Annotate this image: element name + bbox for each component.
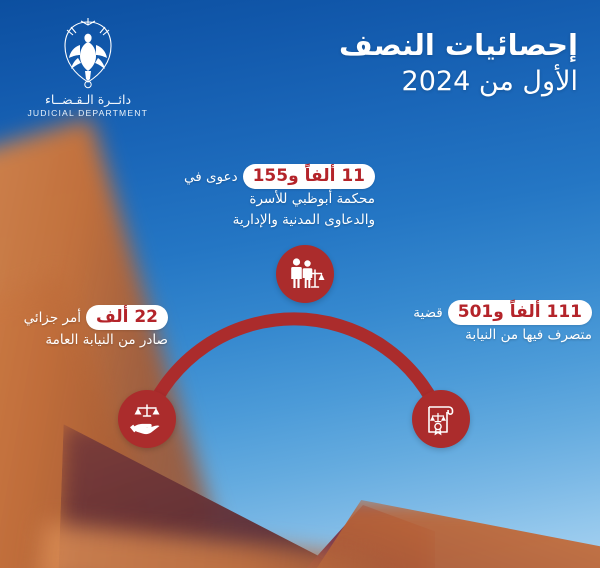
stat-unit: أمر جزائي <box>24 310 81 326</box>
title-line-secondary: الأول من 2024 <box>339 66 578 99</box>
infographic-poster: دائــرة الـقـضــاء JUDICIAL DEPARTMENT إ… <box>0 0 600 568</box>
status-badge: 22 ألف <box>86 305 168 330</box>
brand-logo: دائــرة الـقـضــاء JUDICIAL DEPARTMENT <box>28 14 148 118</box>
stat-description-line-2: والدعاوى المدنية والإدارية <box>160 211 375 231</box>
stat-description-line-1: صادر من النيابة العامة <box>8 331 168 351</box>
node-penal-orders[interactable] <box>118 390 176 448</box>
stat-penal-orders: 22 ألف أمر جزائي صادر من النيابة العامة <box>8 305 168 351</box>
stat-description-line-1: محكمة أبوظبي للأسرة <box>160 190 375 210</box>
stat-headline: 22 ألف أمر جزائي <box>8 305 168 330</box>
stat-headline: 11 ألفاً و155 دعوى في <box>160 164 375 189</box>
family-scales-icon <box>285 254 325 294</box>
page-title: إحصائيات النصف الأول من 2024 <box>339 28 578 99</box>
stat-description-line-1: متصرف فيها من النيابة <box>392 326 592 346</box>
stat-unit: قضية <box>413 305 442 321</box>
document-scales-seal-icon <box>422 400 460 438</box>
title-line-primary: إحصائيات النصف <box>339 28 578 63</box>
stat-unit: دعوى في <box>184 169 238 185</box>
stat-family-court: 11 ألفاً و155 دعوى في محكمة أبوظبي للأسر… <box>160 164 375 230</box>
status-badge: 11 ألفاً و155 <box>243 164 375 189</box>
stat-headline: 111 ألفاً و501 قضية <box>392 300 592 325</box>
brand-name-en: JUDICIAL DEPARTMENT <box>28 108 148 118</box>
stat-prosecution-cases: 111 ألفاً و501 قضية متصرف فيها من النياب… <box>392 300 592 346</box>
node-prosecution-cases[interactable] <box>412 390 470 448</box>
hand-holding-scales-icon <box>128 400 166 438</box>
node-family-court[interactable] <box>276 245 334 303</box>
brand-name-ar: دائــرة الـقـضــاء <box>28 92 148 107</box>
falcon-emblem-icon <box>53 14 123 90</box>
status-badge: 111 ألفاً و501 <box>448 300 592 325</box>
